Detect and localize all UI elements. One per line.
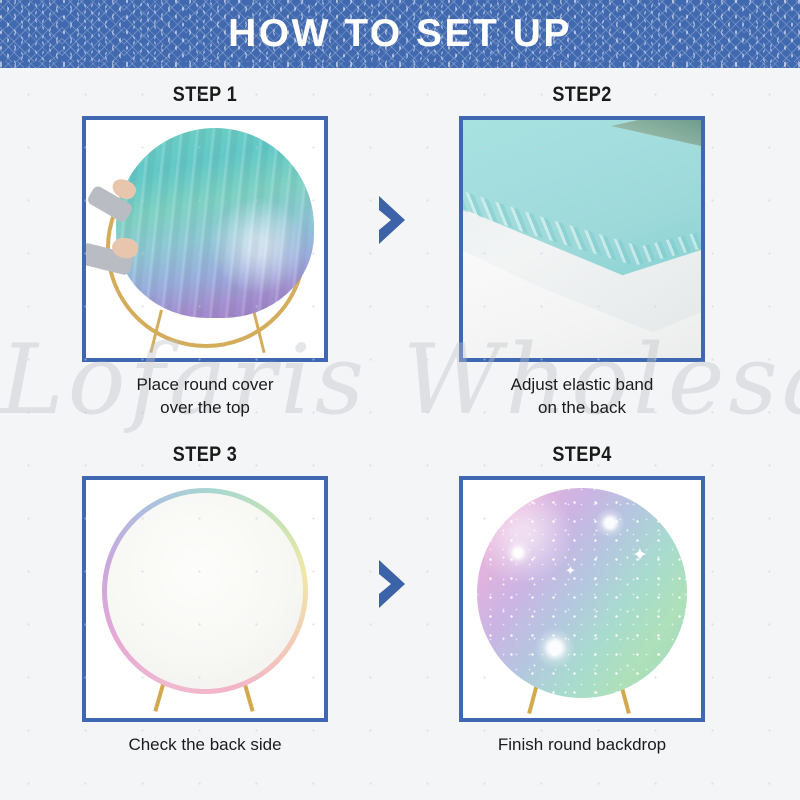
step-caption-1: Place round cover over the top	[35, 374, 375, 420]
step-caption-4-line1: Finish round backdrop	[412, 734, 752, 757]
step-caption-1-line2: over the top	[35, 397, 375, 420]
step-caption-3-line1: Check the back side	[35, 734, 375, 757]
sparkle-icon: ✦	[565, 564, 576, 577]
step-label-3: STEP 3	[59, 443, 351, 467]
chevron-right-icon	[375, 560, 409, 608]
step-image-2-art	[463, 120, 701, 358]
step-image-4-art: ✦ ✦	[463, 480, 701, 718]
step-image-2	[459, 116, 705, 362]
step-image-4: ✦ ✦	[459, 476, 705, 722]
page-title: HOW TO SET UP	[228, 12, 572, 56]
step-image-1-art	[86, 120, 324, 358]
glow-spot	[535, 628, 575, 668]
star-field	[477, 488, 687, 698]
step-card-2: STEP2 Adjust elastic band on the back	[412, 83, 752, 420]
glow-spot	[505, 540, 531, 566]
glow-spot	[595, 508, 625, 538]
step-label-2: STEP2	[436, 83, 728, 107]
header-banner: HOW TO SET UP	[0, 0, 800, 68]
chevron-right-icon	[375, 196, 409, 244]
step-caption-3: Check the back side	[35, 734, 375, 757]
steps-grid: STEP 1 Place round cover over the top ST…	[0, 68, 800, 800]
step-image-1	[82, 116, 328, 362]
gradient-cover-fabric	[116, 128, 314, 318]
step-image-3-art	[86, 480, 324, 718]
step-card-3: STEP 3 Check the back side	[35, 443, 375, 757]
step-image-3	[82, 476, 328, 722]
finished-backdrop: ✦ ✦	[477, 488, 687, 698]
step-caption-2-line2: on the back	[412, 397, 752, 420]
backdrop-back-side	[102, 488, 308, 694]
step-caption-4: Finish round backdrop	[412, 734, 752, 757]
sparkle-icon: ✦	[632, 546, 648, 565]
backdrop-back-face	[107, 493, 303, 689]
fabric-folds	[116, 128, 314, 318]
step-label-4: STEP4	[436, 443, 728, 467]
step-caption-2: Adjust elastic band on the back	[412, 374, 752, 420]
step-card-1: STEP 1 Place round cover over the top	[35, 83, 375, 420]
step-card-4: STEP4 ✦ ✦ Finish round backdrop	[412, 443, 752, 757]
step-label-1: STEP 1	[59, 83, 351, 107]
step-caption-1-line1: Place round cover	[35, 374, 375, 397]
step-caption-2-line1: Adjust elastic band	[412, 374, 752, 397]
